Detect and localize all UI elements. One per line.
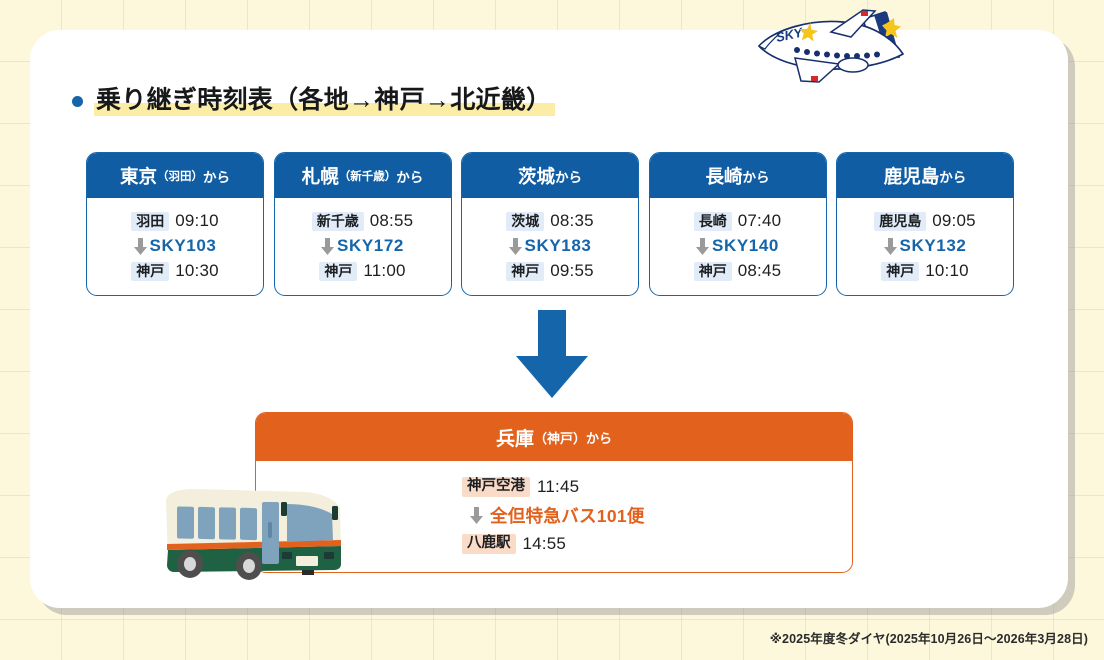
origin-suffix: から bbox=[203, 166, 230, 186]
flight-number: SKY172 bbox=[337, 236, 404, 256]
arrival-row: 神戸 10:30 bbox=[131, 261, 219, 281]
departure-row: 羽田 09:10 bbox=[131, 211, 219, 231]
origin-suffix: から bbox=[939, 166, 966, 186]
departure-time: 08:55 bbox=[370, 211, 414, 231]
arrival-row: 神戸 10:10 bbox=[881, 261, 969, 281]
origin-airport: （羽田） bbox=[157, 168, 203, 184]
flight-row: SKY140 bbox=[696, 236, 779, 256]
flight-card[interactable]: 札幌（新千歳）から 新千歳 08:55 SKY172 神戸 11:00 bbox=[274, 152, 452, 296]
flight-card-header: 札幌（新千歳）から bbox=[275, 153, 451, 198]
section-title: 乗り継ぎ時刻表（各地→神戸→北近畿） bbox=[72, 86, 555, 115]
departure-row: 鹿児島 09:05 bbox=[874, 211, 976, 231]
bus-departure-time: 11:45 bbox=[537, 477, 579, 497]
origin-name: 鹿児島 bbox=[884, 163, 940, 189]
departure-time: 09:10 bbox=[175, 211, 219, 231]
arrival-row: 神戸 08:45 bbox=[694, 261, 782, 281]
flight-card-body: 新千歳 08:55 SKY172 神戸 11:00 bbox=[275, 198, 451, 295]
departure-row: 茨城 08:35 bbox=[506, 211, 594, 231]
bus-card-header: 兵庫（神戸）から bbox=[256, 413, 852, 461]
bus-origin-name: 兵庫 bbox=[496, 424, 534, 451]
down-arrow-icon bbox=[884, 238, 897, 255]
bus-departure-row: 神戸空港 11:45 bbox=[462, 477, 646, 497]
down-arrow-icon bbox=[509, 238, 522, 255]
arrival-label: 神戸 bbox=[131, 262, 169, 281]
bus-service-row: 全但特急バス101便 bbox=[454, 503, 654, 528]
flight-card-header: 長崎から bbox=[650, 153, 826, 198]
flight-card-body: 長崎 07:40 SKY140 神戸 08:45 bbox=[650, 198, 826, 295]
departure-label: 長崎 bbox=[694, 212, 732, 231]
flight-number: SKY140 bbox=[712, 236, 779, 256]
origin-suffix: から bbox=[743, 166, 770, 186]
arrival-time: 10:10 bbox=[925, 261, 969, 281]
origin-name: 東京 bbox=[120, 163, 157, 189]
down-arrow-icon bbox=[321, 238, 334, 255]
bus-service-name: 全但特急バス101便 bbox=[490, 503, 645, 528]
flight-card[interactable]: 鹿児島から 鹿児島 09:05 SKY132 神戸 10:10 bbox=[836, 152, 1014, 296]
arrival-label: 神戸 bbox=[319, 262, 357, 281]
arrival-label: 神戸 bbox=[881, 262, 919, 281]
airplane-icon: SKY bbox=[735, 2, 930, 94]
arrival-label: 神戸 bbox=[694, 262, 732, 281]
page-title: 乗り継ぎ時刻表（各地→神戸→北近畿） bbox=[94, 86, 555, 115]
big-down-arrow-icon bbox=[516, 310, 588, 398]
bullet-dot-icon bbox=[72, 96, 83, 107]
departure-row: 新千歳 08:55 bbox=[312, 211, 414, 231]
departure-time: 07:40 bbox=[738, 211, 782, 231]
flight-card-header: 鹿児島から bbox=[837, 153, 1013, 198]
footnote: ※2025年度冬ダイヤ(2025年10月26日～2026年3月28日) bbox=[770, 628, 1088, 647]
down-arrow-icon bbox=[696, 238, 709, 255]
origin-name: 茨城 bbox=[518, 163, 555, 189]
arrival-label: 神戸 bbox=[506, 262, 544, 281]
down-arrow-icon bbox=[470, 507, 483, 524]
flight-number: SKY132 bbox=[900, 236, 967, 256]
bus-arrival-row: 八鹿駅 14:55 bbox=[462, 534, 646, 554]
flight-card[interactable]: 長崎から 長崎 07:40 SKY140 神戸 08:45 bbox=[649, 152, 827, 296]
arrival-row: 神戸 09:55 bbox=[506, 261, 594, 281]
flight-row: SKY132 bbox=[884, 236, 967, 256]
arrival-row: 神戸 11:00 bbox=[319, 261, 405, 281]
flight-card-body: 羽田 09:10 SKY103 神戸 10:30 bbox=[87, 198, 263, 295]
flight-row: SKY183 bbox=[509, 236, 592, 256]
origin-name: 札幌 bbox=[302, 163, 339, 189]
bus-origin-airport: （神戸） bbox=[534, 428, 586, 447]
departure-row: 長崎 07:40 bbox=[694, 211, 782, 231]
departure-label: 鹿児島 bbox=[874, 212, 926, 231]
origin-suffix: から bbox=[555, 166, 582, 186]
arrival-time: 11:00 bbox=[363, 261, 405, 281]
bus-icon bbox=[156, 478, 352, 588]
departure-time: 09:05 bbox=[932, 211, 976, 231]
flight-row: SKY172 bbox=[321, 236, 404, 256]
bus-arrival-label: 八鹿駅 bbox=[462, 534, 516, 554]
bus-departure-label: 神戸空港 bbox=[462, 477, 530, 497]
flight-card[interactable]: 東京（羽田）から 羽田 09:10 SKY103 神戸 10:30 bbox=[86, 152, 264, 296]
flight-number: SKY183 bbox=[525, 236, 592, 256]
origin-name: 長崎 bbox=[705, 163, 742, 189]
arrival-time: 09:55 bbox=[550, 261, 594, 281]
flight-card-header: 東京（羽田）から bbox=[87, 153, 263, 198]
bus-origin-suffix: から bbox=[586, 428, 612, 447]
arrival-time: 08:45 bbox=[738, 261, 782, 281]
arrival-time: 10:30 bbox=[175, 261, 219, 281]
bus-arrival-time: 14:55 bbox=[523, 534, 567, 554]
flight-card-body: 鹿児島 09:05 SKY132 神戸 10:10 bbox=[837, 198, 1013, 295]
departure-time: 08:35 bbox=[550, 211, 594, 231]
flight-card-list: 東京（羽田）から 羽田 09:10 SKY103 神戸 10:30 札幌（新千歳… bbox=[86, 152, 1014, 296]
origin-airport: （新千歳） bbox=[339, 168, 397, 184]
origin-suffix: から bbox=[396, 166, 423, 186]
flight-card[interactable]: 茨城から 茨城 08:35 SKY183 神戸 09:55 bbox=[461, 152, 639, 296]
flight-card-body: 茨城 08:35 SKY183 神戸 09:55 bbox=[462, 198, 638, 295]
departure-label: 茨城 bbox=[506, 212, 544, 231]
flight-row: SKY103 bbox=[134, 236, 217, 256]
departure-label: 羽田 bbox=[131, 212, 169, 231]
flight-number: SKY103 bbox=[150, 236, 217, 256]
departure-label: 新千歳 bbox=[312, 212, 364, 231]
down-arrow-icon bbox=[134, 238, 147, 255]
flight-card-header: 茨城から bbox=[462, 153, 638, 198]
